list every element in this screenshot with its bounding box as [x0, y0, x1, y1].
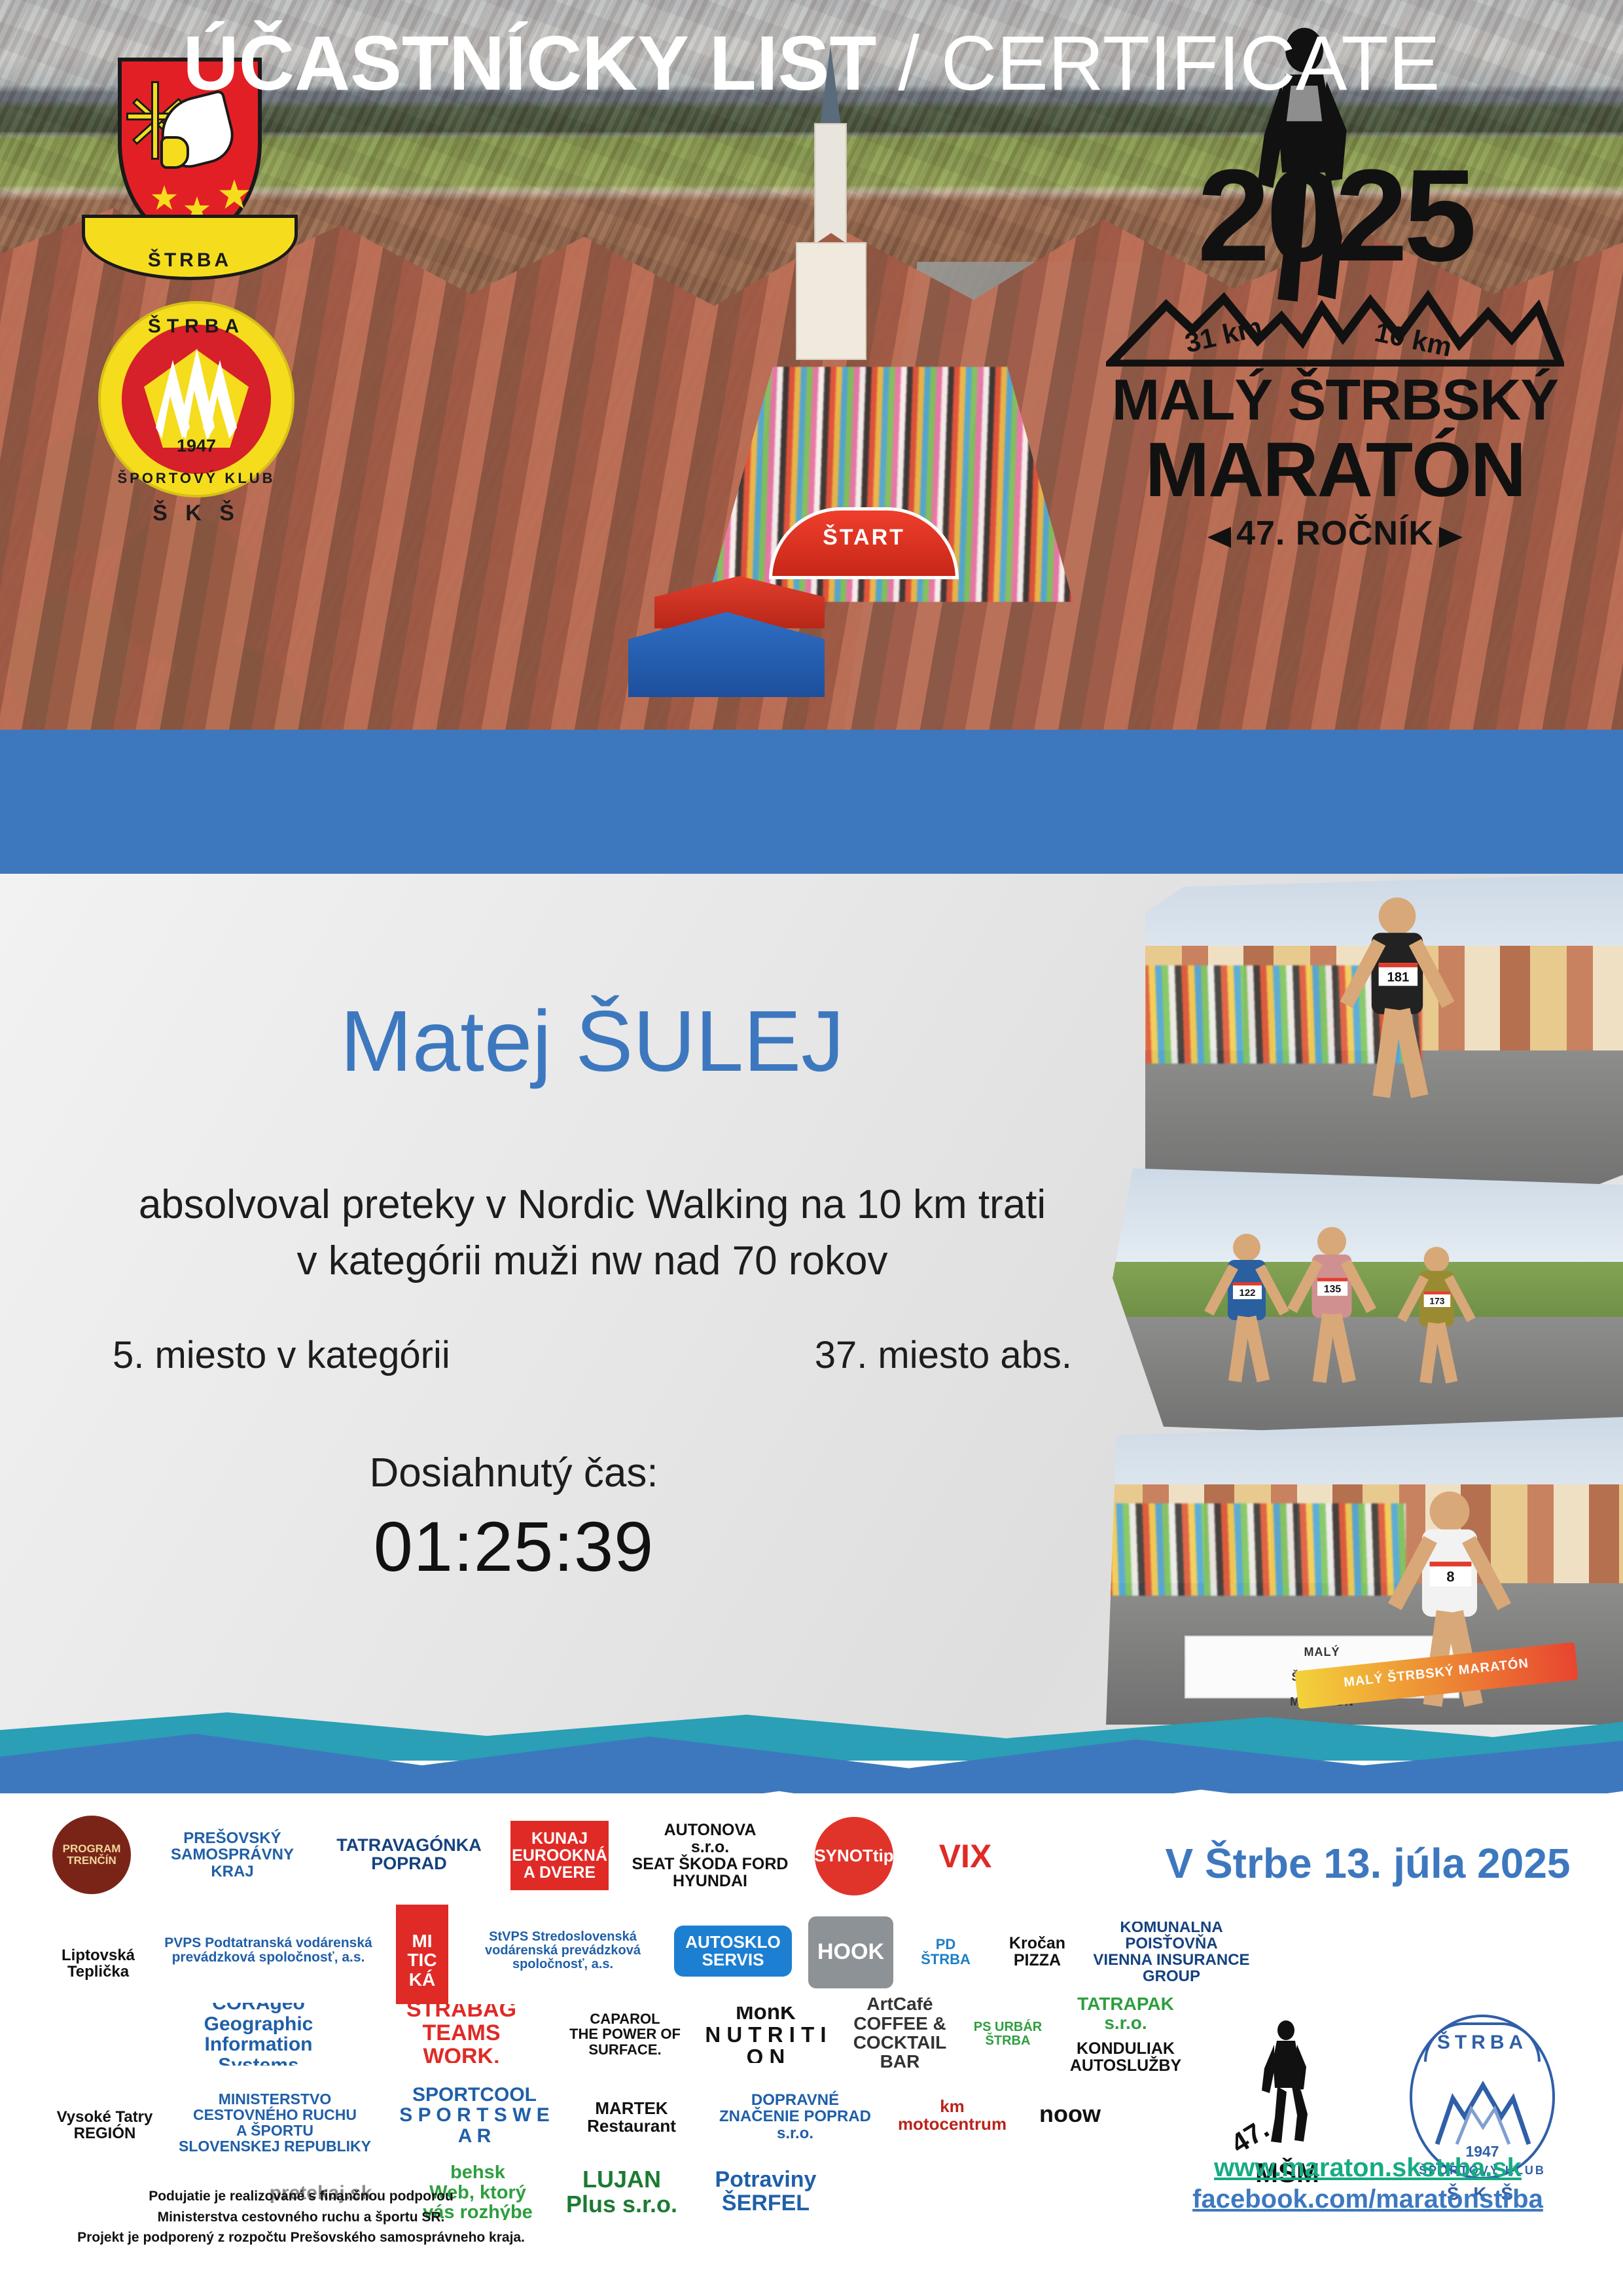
event-edition: 47. ROČNÍK [1086, 514, 1584, 553]
title-slovak: ÚČASTNÍCKY LIST [183, 20, 877, 107]
sks-top-text: ŠTRBA [98, 315, 294, 338]
sponsor-logo-label: PD ŠTRBA [919, 1935, 972, 1968]
sponsor-logo: CAPAROL THE POWER OF SURFACE. [563, 2000, 687, 2068]
sponsor-logo: PREŠOVSKÝ SAMOSPRÁVNY KRAJ [151, 1823, 314, 1886]
sponsor-logo-label: VIX [938, 1838, 993, 1875]
coa-cuff-icon [160, 136, 189, 169]
sponsor-logo: MonK N U T R I T I O N [700, 2007, 831, 2063]
sponsor-logo-label: PREŠOVSKÝ SAMOSPRÁVNY KRAJ [169, 1829, 295, 1881]
sponsor-logo: CORAgeo Geographic Information Systems [160, 2003, 357, 2066]
event-title-line2: MARATÓN [1086, 425, 1584, 514]
sponsor-logo-label: StVPS Stredoslovenská vodárenská prevádz… [465, 1929, 661, 1973]
sponsor-logo-label: ArtCafé COFFEE & COCKTAIL BAR [844, 1998, 955, 2068]
sponsor-logo: PD ŠTRBA [906, 1912, 985, 1991]
time-label: Dosiahnutý čas: [92, 1450, 936, 1496]
photo-collage: 181 122 135 173 [1106, 874, 1623, 1725]
facebook-link[interactable]: facebook.com/maratonstrba [1139, 2185, 1597, 2214]
sponsor-logo-label: STRABAG TEAMS WORK. [386, 2004, 537, 2063]
support-line-3: Projekt je podporený z rozpočtu Prešovsk… [39, 2227, 563, 2248]
sponsor-logo: MI TIC KÁ [396, 1905, 448, 2016]
bib-number: 8 [1430, 1566, 1472, 1589]
sks-year: 1947 [98, 436, 294, 456]
sks-bottom-text: ŠPORTOVÝ KLUB [98, 470, 294, 487]
bib-number: 122 [1233, 1285, 1262, 1301]
support-line-2: Ministerstva cestovného ruchu a športu S… [39, 2207, 563, 2228]
runner-figure: 173 [1403, 1247, 1469, 1397]
mountain-stamp-icon [1431, 2076, 1535, 2148]
sponsor-logo: Kročan PIZZA [995, 1912, 1080, 1991]
sponsor-logo-label: PS URBÁR ŠTRBA [972, 2019, 1043, 2049]
sponsor-logo: ArtCafé COFFEE & COCKTAIL BAR [844, 1998, 955, 2068]
footer-right-column: V Štrbe 13. júla 2025 47. MŠM [1139, 1800, 1597, 2284]
sponsor-logo-label: AUTOSKLO SERVIS [684, 1932, 781, 1971]
sponsor-logo: PS URBÁR ŠTRBA [965, 1998, 1050, 2071]
sponsor-logo-label: MI TIC KÁ [406, 1930, 438, 1990]
place-in-category: 5. miesto v kategórii [113, 1333, 450, 1377]
sponsor-logo: SPORTCOOL S P O R T S W E A R [393, 2084, 556, 2147]
sponsor-logo-label: LUJAN Plus s.r.o. [565, 2166, 679, 2218]
sponsor-logo-label: SPORTCOOL S P O R T S W E A R [393, 2084, 556, 2147]
sponsor-logo: SYNOTtip [815, 1817, 893, 1895]
sks-abbr: Š K Š [98, 501, 294, 526]
sponsor-logo-label: Liptovská Teplička [60, 1946, 136, 1981]
sponsor-logo: TATRAVAGÓNKA POPRAD [327, 1826, 491, 1882]
sponsor-logo: PROGRAM TRENČÍN [52, 1816, 131, 1894]
sponsor-logo-label: SYNOTtip [815, 1846, 893, 1866]
bib-number: 173 [1424, 1295, 1450, 1309]
title-english: CERTIFICATE [941, 20, 1440, 107]
sponsor-logo: MINISTERSTVO CESTOVNÉHO RUCHU A ŠPORTU S… [167, 2080, 383, 2165]
runner-figure: 135 [1294, 1227, 1370, 1399]
sponsor-logo-label: DOPRAVNÉ ZNAČENIE POPRAD s.r.o. [707, 2090, 883, 2143]
sponsor-logo: AUTOSKLO SERVIS [674, 1926, 792, 1977]
support-text: Podujatie je realizované s finančnou pod… [39, 2186, 563, 2248]
sponsor-logo: PVPS Podtatranská vodárenská prevádzková… [160, 1918, 376, 1983]
photo-finish-line: MALÝ ŠTRBSKÝ MARATÓN 8 MALÝ ŠTRBSKÝ MARA… [1106, 1417, 1623, 1725]
sponsor-logo-label: km motocentrum [897, 2096, 1008, 2135]
runner-figure: 181 [1349, 897, 1446, 1119]
sponsor-logo: Liptovská Teplička [52, 1911, 144, 2016]
sponsor-logo-label: HOOK [816, 1939, 885, 1965]
photo-runners-group: 122 135 173 [1113, 1168, 1623, 1443]
sponsor-footer: PROGRAM TRENČÍNPREŠOVSKÝ SAMOSPRÁVNY KRA… [0, 1793, 1623, 2296]
event-logo: 2025 31 km 10 km MALÝ ŠTRBSKÝ MARATÓN 47… [1086, 26, 1584, 602]
sponsor-logo-label: Kročan PIZZA [1008, 1933, 1067, 1971]
photo-finisher-woman: 181 [1145, 874, 1623, 1201]
sponsor-logo: LUJAN Plus s.r.o. [563, 2161, 681, 2223]
sponsor-logo: VIX [916, 1817, 1014, 1895]
sponsor-logo-grid: PROGRAM TRENČÍNPREŠOVSKÝ SAMOSPRÁVNY KRA… [46, 1806, 1132, 2186]
placement-row: 5. miesto v kategórii 37. miesto abs. [92, 1333, 1093, 1377]
arrow-right-icon [1439, 527, 1463, 548]
coa-ribbon-text: ŠTRBA [85, 249, 294, 272]
sponsor-logo-label: KUNAJ EUROOKNÁ A DVERE [510, 1829, 609, 1883]
sponsor-logo: AUTONOVA s.r.o. SEAT ŠKODA FORD HYUNDAI [625, 1820, 795, 1892]
event-year: 2025 [1086, 151, 1584, 281]
sponsor-logo-label: AUTONOVA s.r.o. SEAT ŠKODA FORD HYUNDAI [625, 1820, 795, 1892]
sponsor-logo: DOPRAVNÉ ZNAČENIE POPRAD s.r.o. [707, 2089, 883, 2144]
coa-ribbon: ŠTRBA [82, 215, 298, 280]
sponsor-logo-label: TATRAVAGÓNKA POPRAD [335, 1835, 482, 1874]
sponsor-logo-label: Vysoké Tatry REGIÓN [56, 2108, 154, 2143]
sponsor-logo-label: CAPAROL THE POWER OF SURFACE. [563, 2010, 687, 2058]
bib-number: 135 [1317, 1282, 1347, 1298]
certificate-page: ŠTART ŠTRBA ŠTRBA 1947 ŠPORTOVÝ KLUB Š K… [0, 0, 1623, 2296]
bib-number: 181 [1379, 967, 1418, 988]
mountain-outline-icon [1106, 281, 1564, 367]
sponsor-logo: HOOK [808, 1916, 893, 1988]
certificate-description: absolvoval preteky v Nordic Walking na 1… [92, 1177, 1093, 1289]
event-date: V Štrbe 13. júla 2025 [1139, 1839, 1597, 1888]
support-line-1: Podujatie je realizované s finančnou pod… [39, 2186, 563, 2207]
sponsor-logo-label: noow [1038, 2100, 1102, 2128]
title-separator: / [876, 20, 940, 107]
sponsor-logo-label: MARTEK Restaurant [586, 2098, 677, 2137]
sponsor-logo: KUNAJ EUROOKNÁ A DVERE [510, 1821, 609, 1890]
sponsor-logo-label: PVPS Podtatranská vodárenská prevádzková… [160, 1935, 376, 1966]
description-line-2: v kategórii muži nw nad 70 rokov [92, 1233, 1093, 1289]
participant-name: Matej ŠULEJ [92, 996, 1093, 1087]
certificate-title: ÚČASTNÍCKY LIST / CERTIFICATE [0, 25, 1623, 102]
sponsor-logo: km motocentrum [897, 2085, 1008, 2145]
sponsor-logo: Vysoké Tatry REGIÓN [52, 2076, 157, 2174]
sks-club-badge: ŠTRBA 1947 ŠPORTOVÝ KLUB Š K Š [98, 301, 294, 497]
sponsor-logo-label: MonK N U T R I T I O N [700, 2007, 831, 2063]
description-line-1: absolvoval preteky v Nordic Walking na 1… [92, 1177, 1093, 1233]
sks-stamp-top: ŠTRBA [1400, 2032, 1564, 2054]
sponsor-logo: STRABAG TEAMS WORK. [386, 2004, 537, 2063]
event-title-line1: MALÝ ŠTRBSKÝ [1086, 367, 1584, 433]
finish-time: 01:25:39 [92, 1505, 936, 1587]
sponsor-logo: MARTEK Restaurant [569, 2081, 694, 2153]
website-link[interactable]: www.maraton.skstrba.sk [1139, 2153, 1597, 2183]
sponsor-logo-label: MINISTERSTVO CESTOVNÉHO RUCHU A ŠPORTU S… [177, 2090, 372, 2156]
runner-figure: 122 [1211, 1234, 1283, 1397]
sponsor-logo-label: CORAgeo Geographic Information Systems [160, 2003, 357, 2066]
sponsor-logo-label: Potraviny ŠERFEL [714, 2167, 818, 2216]
place-absolute: 37. miesto abs. [815, 1333, 1072, 1377]
sponsor-logo-label: PROGRAM TRENČÍN [62, 1842, 122, 1868]
sponsor-logo: Potraviny ŠERFEL [700, 2162, 831, 2221]
sponsor-logo: StVPS Stredoslovenská vodárenská prevádz… [465, 1916, 661, 1984]
sponsor-logo: noow [1021, 2088, 1119, 2140]
